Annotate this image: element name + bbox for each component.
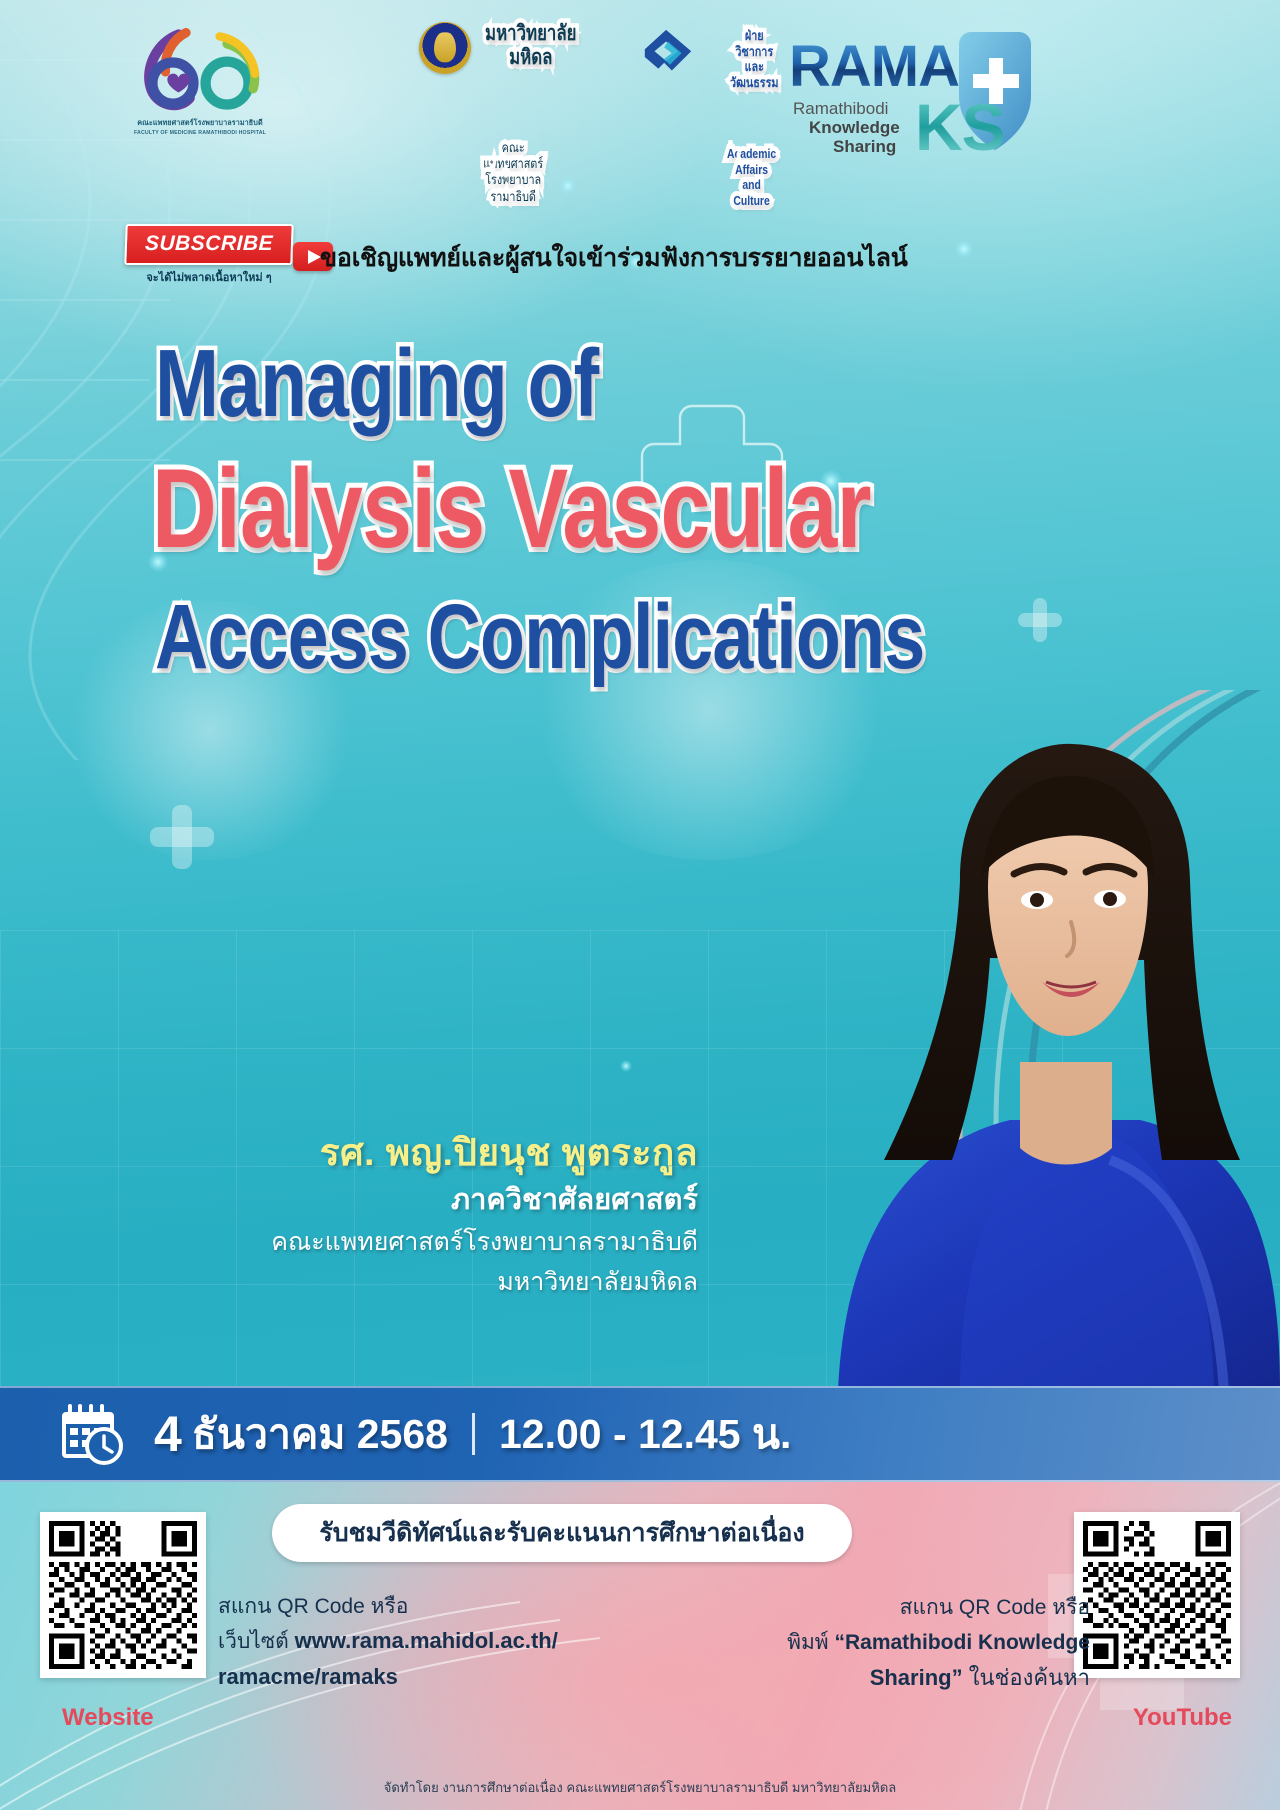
website-url-line2[interactable]: ramacme/ramaks — [218, 1661, 638, 1693]
header-logo-bar: คณะแพทยศาสตร์โรงพยาบาลรามาธิบดี FACULTY … — [0, 0, 1280, 175]
speaker-org-line2: มหาวิทยาลัยมหิดล — [0, 1266, 698, 1299]
subscribe-badge[interactable]: SUBSCRIBE จะได้ไม่พลาดเนื้อหาใหม่ ๆ — [125, 224, 293, 286]
youtube-search-line: พิมพ์ “Ramathibodi Knowledge — [670, 1627, 1090, 1659]
poster-canvas: คณะแพทยศาสตร์โรงพยาบาลรามาธิบดี FACULTY … — [0, 0, 1280, 1810]
title-line-1: Managing of — [155, 340, 598, 428]
website-info: สแกน QR Code หรือ เว็บไซต์ www.rama.mahi… — [218, 1592, 638, 1693]
bokeh-dot — [560, 178, 576, 194]
youtube-channel-part1: “Ramathibodi Knowledge — [834, 1631, 1090, 1654]
speaker-department: ภาควิชาศัลยศาสตร์ — [0, 1182, 698, 1218]
faculty-60th-anniversary-logo: คณะแพทยศาสตร์โรงพยาบาลรามาธิบดี FACULTY … — [130, 24, 270, 137]
academic-affairs-mark-icon — [639, 28, 697, 86]
faculty-logo-caption-en: FACULTY OF MEDICINE RAMATHIBODI HOSPITAL — [130, 130, 270, 137]
faculty-logo-caption-th: คณะแพทยศาสตร์โรงพยาบาลรามาธิบดี — [130, 118, 270, 128]
website-prefix: เว็บไซต์ — [218, 1630, 289, 1653]
schedule-text: 4 ธันวาคม 2568 12.00 - 12.45 น. — [154, 1402, 791, 1467]
svg-text:KS: KS — [915, 90, 1005, 164]
bottom-section: รับชมวีดิทัศน์และรับคะแนนการศึกษาต่อเนื่… — [0, 1482, 1280, 1810]
youtube-qr-code[interactable] — [1074, 1512, 1240, 1678]
website-url[interactable]: www.rama.mahidol.ac.th/ — [295, 1628, 558, 1653]
mahidol-logo-line2: คณะแพทยศาสตร์โรงพยาบาลรามาธิบดี — [482, 140, 544, 205]
bokeh-dot — [620, 1060, 632, 1072]
mahidol-seal-icon — [419, 22, 471, 74]
svg-text:Sharing: Sharing — [833, 137, 896, 156]
website-scan-line: สแกน QR Code หรือ — [218, 1592, 638, 1622]
sixty-numeral-mark — [130, 24, 270, 116]
rama-ks-logo: RAMA KS Ramathibodi Knowledge Sharing — [775, 18, 1045, 168]
speaker-name: รศ. พญ.ปิยนุช พูตระกูล — [0, 1130, 698, 1176]
speaker-info: รศ. พญ.ปิยนุช พูตระกูล ภาควิชาศัลยศาสตร์… — [0, 1130, 760, 1299]
youtube-search-suffix: ในช่องค้นหา — [969, 1665, 1090, 1690]
academic-affairs-and-culture-logo: ฝ่ายวิชาการและวัฒนธรรม Academic Affairs … — [575, 28, 760, 92]
schedule-month-year: ธันวาคม 2568 — [192, 1402, 448, 1467]
website-url-line[interactable]: เว็บไซต์ www.rama.mahidol.ac.th/ — [218, 1625, 638, 1657]
calendar-clock-icon — [58, 1402, 124, 1466]
schedule-time: 12.00 - 12.45 น. — [499, 1402, 791, 1467]
svg-text:Knowledge: Knowledge — [809, 118, 900, 137]
academic-affairs-line1: ฝ่ายวิชาการและวัฒนธรรม — [730, 28, 779, 90]
youtube-scan-line: สแกน QR Code หรือ — [670, 1592, 1090, 1624]
subscribe-button-label[interactable]: SUBSCRIBE — [124, 224, 293, 265]
subscribe-note: จะได้ไม่พลาดเนื้อหาใหม่ ๆ — [125, 268, 293, 286]
title-line-3: Access Complications — [155, 595, 924, 680]
schedule-divider — [472, 1413, 475, 1455]
youtube-search-line2: Sharing” ในช่องค้นหา — [670, 1661, 1090, 1694]
academic-affairs-line2: Academic Affairs and Culture — [727, 146, 776, 208]
youtube-channel-part2: Sharing” — [870, 1665, 963, 1690]
youtube-info: สแกน QR Code หรือ พิมพ์ “Ramathibodi Kno… — [670, 1592, 1090, 1694]
watch-video-banner: รับชมวีดิทัศน์และรับคะแนนการศึกษาต่อเนื่… — [272, 1504, 852, 1562]
title-line-2: Dialysis Vascular — [152, 457, 871, 560]
website-qr-code[interactable] — [40, 1512, 206, 1678]
plus-shape-large — [150, 805, 214, 869]
subscribe-invite-row: SUBSCRIBE จะได้ไม่พลาดเนื้อหาใหม่ ๆ ขอเช… — [0, 224, 1280, 294]
youtube-label: YouTube — [1133, 1704, 1232, 1732]
schedule-day: 4 — [154, 1405, 182, 1463]
footer-credit: จัดทำโดย งานการศึกษาต่อเนื่อง คณะแพทยศาส… — [0, 1777, 1280, 1798]
youtube-prefix: พิมพ์ — [787, 1631, 829, 1654]
schedule-band: 4 ธันวาคม 2568 12.00 - 12.45 น. — [0, 1386, 1280, 1482]
watch-video-banner-text: รับชมวีดิทัศน์และรับคะแนนการศึกษาต่อเนื่… — [319, 1513, 804, 1553]
website-label: Website — [62, 1704, 154, 1732]
speaker-photo — [810, 690, 1280, 1390]
mahidol-logo-line1: มหาวิทยาลัยมหิดล — [485, 22, 577, 70]
mahidol-university-logo: มหาวิทยาลัยมหิดล คณะแพทยศาสตร์โรงพยาบาลร… — [330, 22, 560, 78]
plus-shape-small — [1018, 598, 1062, 642]
speaker-org-line1: คณะแพทยศาสตร์โรงพยาบาลรามาธิบดี — [0, 1226, 698, 1259]
invite-text: ขอเชิญแพทย์และผู้สนใจเข้าร่วมฟังการบรรยา… — [320, 238, 908, 278]
svg-text:Ramathibodi: Ramathibodi — [793, 99, 888, 118]
